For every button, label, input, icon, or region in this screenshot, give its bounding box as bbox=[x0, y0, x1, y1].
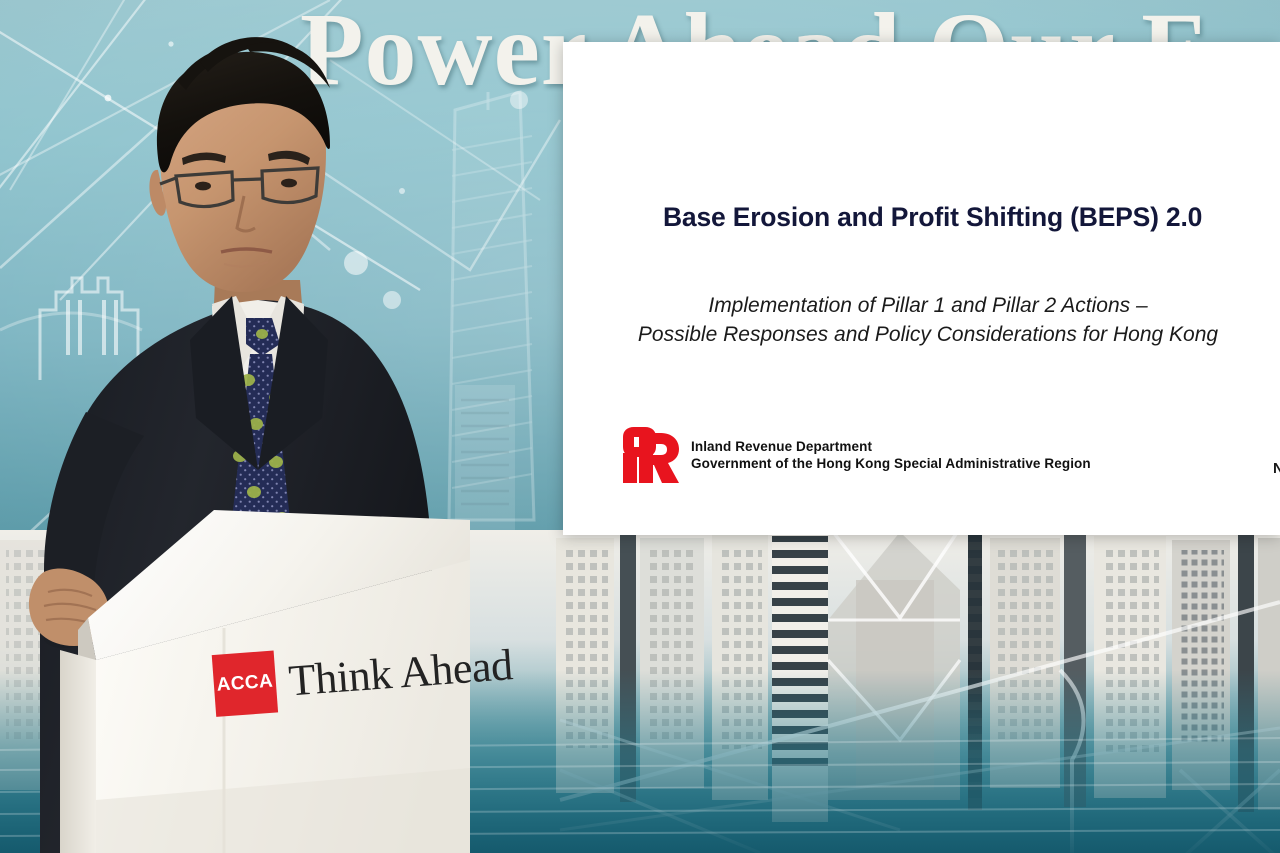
ird-government-name: Government of the Hong Kong Special Admi… bbox=[691, 455, 1091, 472]
slide-clipped-text-fragment: N bbox=[1273, 460, 1280, 477]
acca-tagline: Think Ahead bbox=[287, 639, 514, 706]
slide-subtitle-line-1: Implementation of Pillar 1 and Pillar 2 … bbox=[563, 292, 1280, 321]
presentation-slide: Base Erosion and Profit Shifting (BEPS) … bbox=[563, 42, 1280, 535]
slide-subtitle-line-2: Possible Responses and Policy Considerat… bbox=[563, 321, 1280, 350]
acca-badge-label: ACCA bbox=[216, 671, 274, 697]
acca-badge-icon: ACCA bbox=[212, 651, 278, 717]
slide-title: Base Erosion and Profit Shifting (BEPS) … bbox=[663, 202, 1202, 233]
slide-subtitle: Implementation of Pillar 1 and Pillar 2 … bbox=[563, 292, 1280, 350]
screenshot-frame: Power Ahead Our F bbox=[0, 0, 1280, 853]
ird-department-name: Inland Revenue Department bbox=[691, 438, 1091, 455]
ird-text-block: Inland Revenue Department Government of … bbox=[691, 438, 1091, 473]
ird-monogram-icon bbox=[621, 427, 680, 483]
ird-logo-lockup: Inland Revenue Department Government of … bbox=[621, 427, 1091, 483]
